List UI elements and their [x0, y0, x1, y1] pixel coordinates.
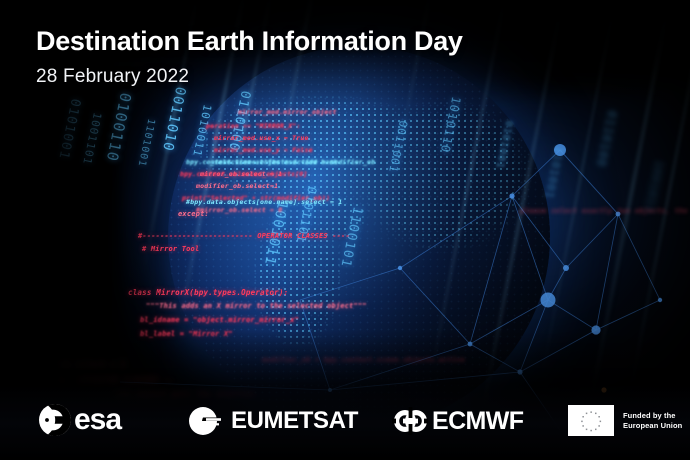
ecmwf-emblem-icon [392, 407, 428, 435]
partner-logo-bar: esa EUMETSAT [0, 382, 690, 460]
logo-eumetsat[interactable]: EUMETSAT [186, 406, 358, 436]
esa-wordmark: esa [74, 405, 121, 435]
page-title: Destination Earth Information Day [36, 27, 463, 57]
logo-ecmwf[interactable]: ECMWF [392, 407, 523, 435]
eu-flag-icon [568, 405, 614, 436]
eu-funding-text: Funded by the European Union [623, 411, 682, 431]
eumetsat-wordmark: EUMETSAT [231, 409, 358, 433]
esa-emblem-icon [38, 403, 72, 437]
event-banner: 0101001 1001101 0100110 1101001 0011010 … [0, 0, 690, 460]
event-date: 28 February 2022 [36, 66, 463, 88]
eu-funding-line2: European Union [623, 421, 682, 431]
logo-european-union[interactable]: Funded by the European Union [568, 405, 682, 436]
title-block: Destination Earth Information Day 28 Feb… [36, 27, 463, 88]
eu-funding-line1: Funded by the [623, 411, 682, 421]
eumetsat-emblem-icon [186, 406, 222, 436]
logo-esa[interactable]: esa [38, 403, 121, 437]
ecmwf-wordmark: ECMWF [432, 409, 523, 434]
